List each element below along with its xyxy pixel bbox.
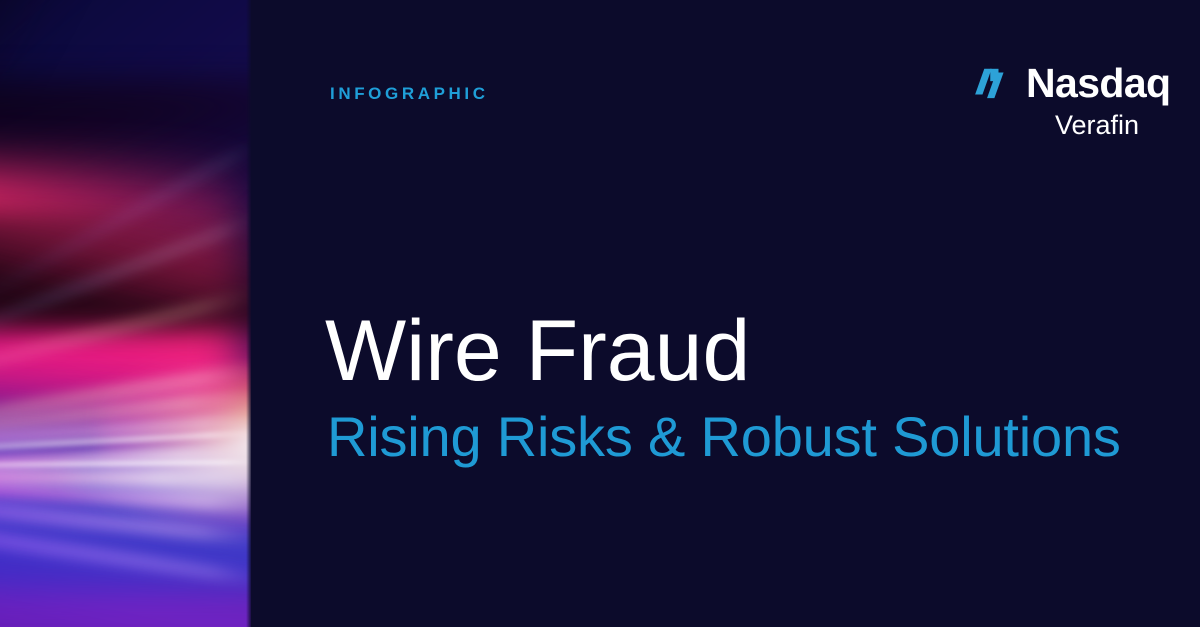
artwork-canvas [0,0,251,627]
nasdaq-n-mark-icon [971,61,1015,105]
nasdaq-wordmark: Nasdaq [1026,63,1171,104]
logo-primary-row: Nasdaq [971,58,1171,108]
hero-artwork [0,0,251,627]
nasdaq-verafin-logo: Nasdaq Verafin [971,58,1141,146]
artwork-cyan-glow [60,430,251,520]
page-subtitle: Rising Risks & Robust Solutions [327,409,1121,465]
content-panel: INFOGRAPHIC Wire Fraud Rising Risks & Ro… [251,0,1200,627]
page-title: Wire Fraud [325,308,750,394]
eyebrow-label: INFOGRAPHIC [330,84,489,104]
infographic-cover: INFOGRAPHIC Wire Fraud Rising Risks & Ro… [0,0,1200,627]
verafin-product-name: Verafin [1055,112,1139,139]
